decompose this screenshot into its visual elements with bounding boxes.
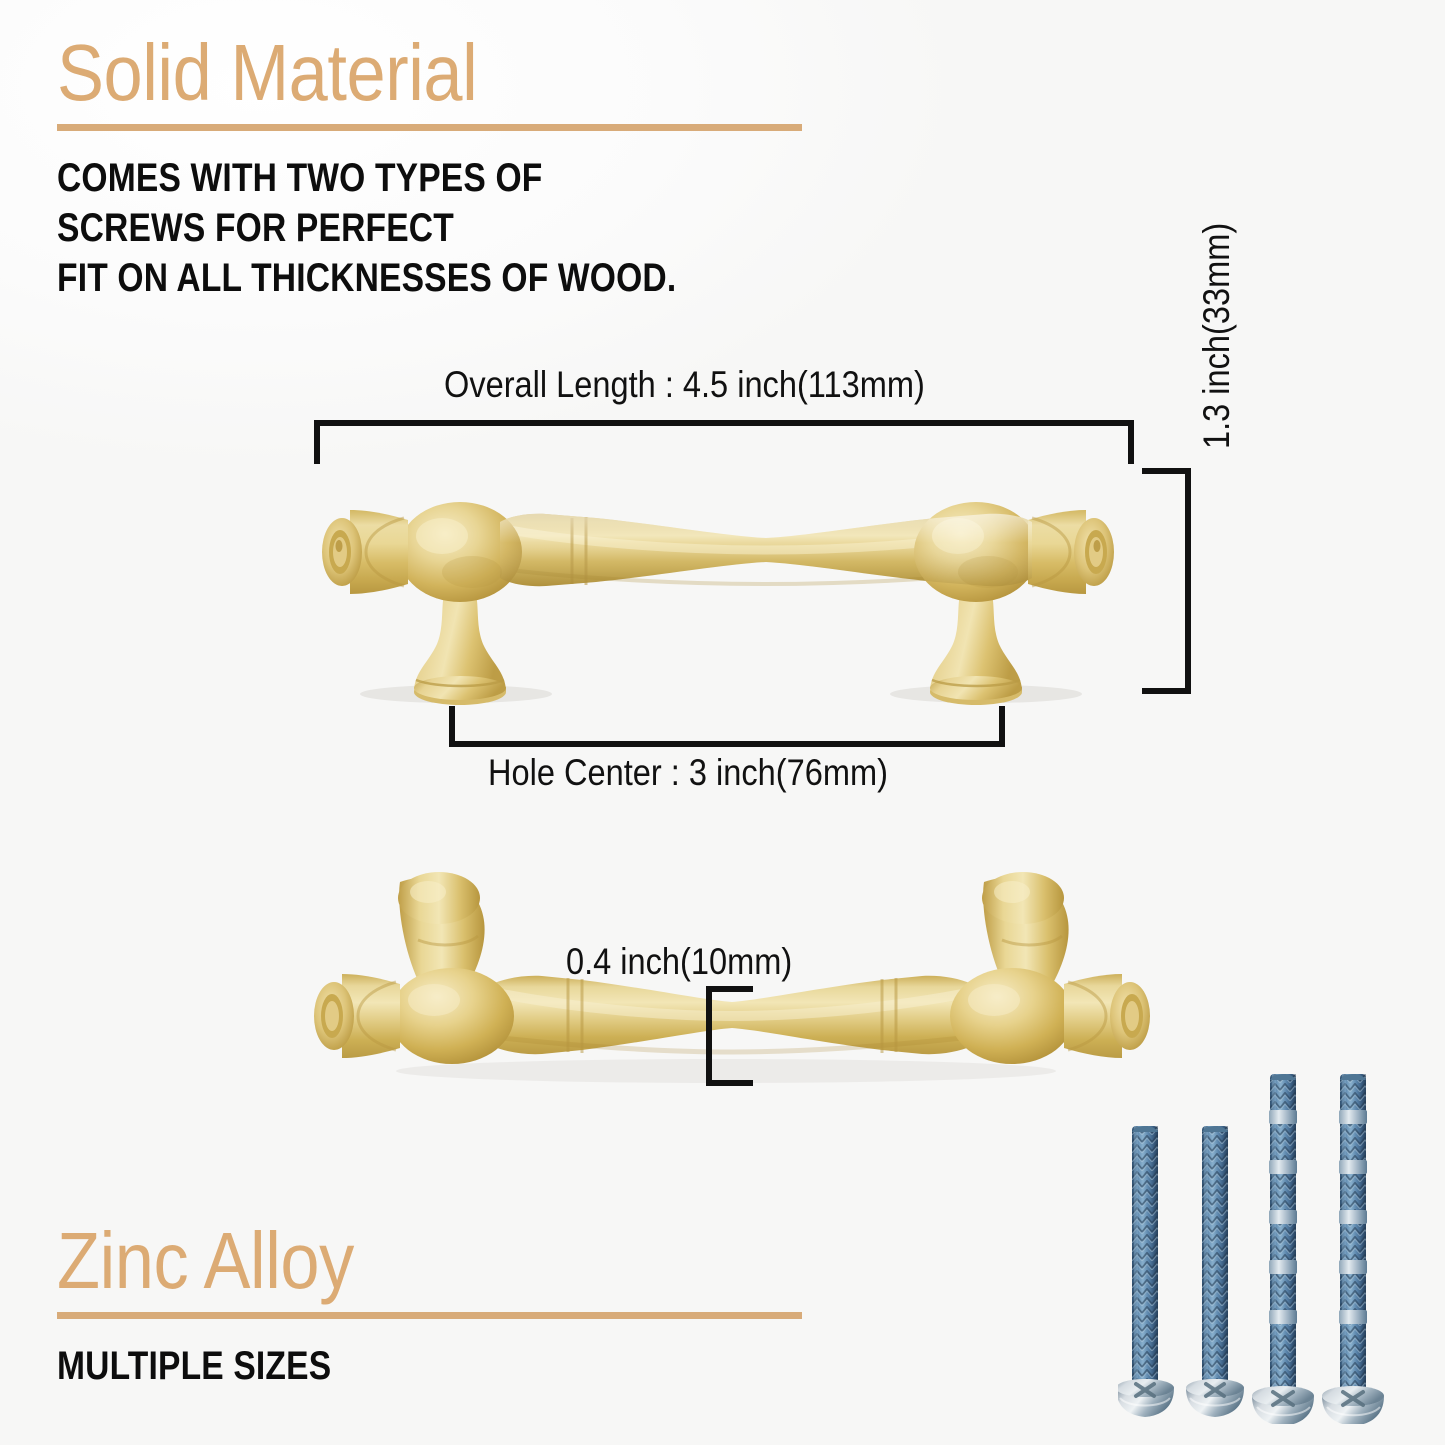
short-screw-1	[1118, 1126, 1174, 1417]
bottom-subtitle: MULTIPLE SIZES	[57, 1341, 683, 1391]
thickness-bracket	[706, 986, 754, 1086]
hole-center-bracket	[449, 706, 1005, 748]
thickness-label: 0.4 inch(10mm)	[566, 941, 792, 983]
bottom-divider	[57, 1312, 802, 1319]
bottom-title: Zinc Alloy	[57, 1222, 713, 1300]
long-screw-1	[1252, 1074, 1314, 1424]
overall-length-label: Overall Length : 4.5 inch(113mm)	[444, 364, 925, 406]
height-label: 1.3 inch(33mm)	[1196, 223, 1238, 449]
screw-set	[1118, 1074, 1418, 1424]
bottom-section-heading: Zinc Alloy MULTIPLE SIZES	[57, 1222, 802, 1391]
top-subtitle: COMES WITH TWO TYPES OF SCREWS FOR PERFE…	[57, 153, 683, 303]
infographic-page: Solid Material COMES WITH TWO TYPES OF S…	[0, 0, 1445, 1445]
top-section-heading: Solid Material COMES WITH TWO TYPES OF S…	[57, 34, 802, 303]
cabinet-pull-front-view	[296, 466, 1156, 706]
top-divider	[57, 124, 802, 131]
long-screw-2	[1322, 1074, 1384, 1424]
top-title: Solid Material	[57, 34, 713, 112]
short-screw-2	[1186, 1126, 1244, 1417]
hole-center-label: Hole Center : 3 inch(76mm)	[488, 752, 888, 794]
overall-length-bracket	[314, 420, 1134, 464]
